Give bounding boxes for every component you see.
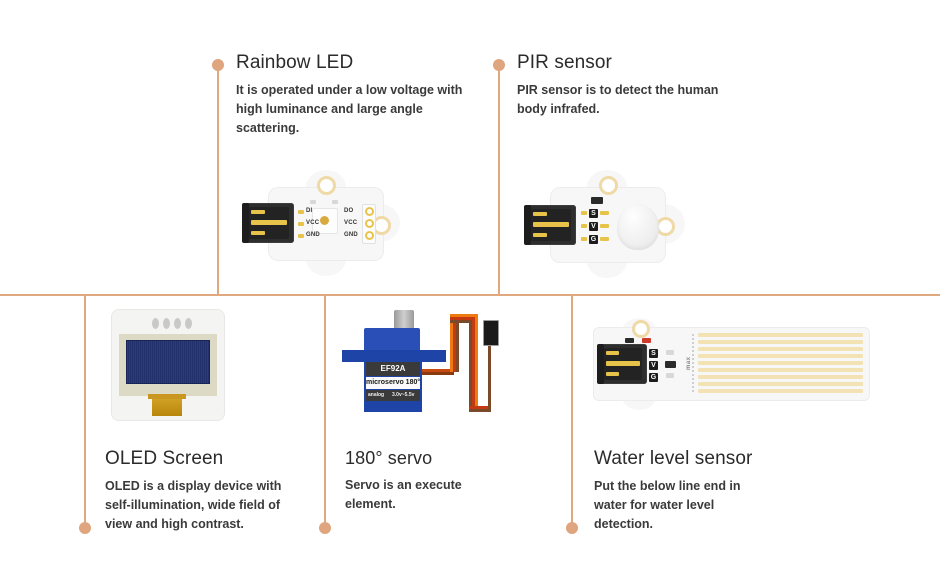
servo-spec-right-text: 3.0v~5.5v [392, 392, 418, 398]
servo-wire-down-orange [475, 314, 478, 412]
servo-spec-left-text: analog [368, 392, 390, 398]
pir-pad-s [581, 211, 587, 215]
pin-label-vcc-right: VCC [344, 220, 357, 226]
callout-body-rainbow-led: It is operated under a low voltage with … [236, 81, 466, 138]
oled-display-area [126, 340, 210, 384]
wl-trace-5 [698, 361, 863, 365]
smd-part-a [310, 200, 316, 204]
pir-trace-v [600, 224, 609, 228]
oled-flex-base [148, 394, 186, 399]
callout-pir-sensor: PIR sensor PIR sensor is to detect the h… [517, 52, 732, 119]
connector-contact-2 [251, 220, 287, 225]
wl-pin-label-s: S [649, 349, 658, 358]
callout-body-servo: Servo is an execute element. [345, 476, 505, 514]
pir-smd-chip [591, 197, 603, 204]
pir-trace-s [600, 211, 609, 215]
pad-gnd-left [298, 234, 304, 238]
pir-dome-lens [617, 204, 659, 250]
pad-vcc-left [298, 222, 304, 226]
wl-smd-ic [665, 361, 676, 368]
pir-connector-contact-3 [533, 233, 547, 237]
wl-connector-contact-1 [606, 351, 619, 355]
wl-trace-8 [698, 382, 863, 386]
callout-body-oled-screen: OLED is a display device with self-illum… [105, 477, 295, 534]
wl-connector-contact-2 [606, 361, 640, 366]
water-level-sensor-image: S V G max [594, 318, 884, 410]
wl-indicator-red [642, 338, 651, 343]
wl-trace-6 [698, 368, 863, 372]
pir-mount-hole-top [599, 176, 618, 195]
dot-rainbow-led [212, 59, 224, 71]
dot-pir-sensor [493, 59, 505, 71]
oled-flex-connector [152, 396, 182, 416]
wl-trace-7 [698, 375, 863, 379]
pir-connector-left-rail [524, 205, 531, 245]
callout-title-oled-screen: OLED Screen [105, 448, 295, 470]
wl-connector-contact-3 [606, 372, 619, 376]
connector-contact-3 [251, 231, 265, 235]
wl-smd-2 [666, 373, 674, 378]
oled-vent-dot-1 [152, 318, 159, 329]
wl-trace-2 [698, 340, 863, 344]
pir-pad-v [581, 224, 587, 228]
horizontal-divider-line [0, 294, 940, 296]
oled-vent-dot-3 [174, 318, 181, 329]
dot-water-level [566, 522, 578, 534]
callout-title-pir-sensor: PIR sensor [517, 52, 732, 74]
pin-label-gnd-left: GND [306, 232, 320, 238]
pir-cable-connector [524, 205, 576, 245]
smd-part-b [332, 200, 338, 204]
header-hole-1 [365, 207, 374, 216]
servo-type-text: microservo 180° [366, 379, 420, 386]
wl-trace-3 [698, 347, 863, 351]
pir-trace-g [600, 237, 609, 241]
wl-pin-label-v: V [649, 361, 658, 370]
callout-title-servo: 180° servo [345, 448, 505, 469]
callout-water-level: Water level sensor Put the below line en… [594, 448, 759, 534]
wl-connector-left-rail [597, 344, 604, 384]
servo-cable-plug [483, 320, 499, 346]
servo-wire-lead-brown [422, 372, 454, 375]
pir-pin-label-g: G [589, 235, 598, 244]
pin-label-di: DI [306, 208, 312, 214]
pir-pad-g [581, 237, 587, 241]
pir-sensor-module-image: S V G [525, 170, 685, 278]
header-hole-3 [365, 231, 374, 240]
wl-pin-label-g: G [649, 373, 658, 382]
servo-image: EF92A microservo 180° analog 3.0v~5.5v [340, 310, 510, 420]
wl-trace-4 [698, 354, 863, 358]
oled-screen-image [112, 310, 224, 420]
wl-trace-1 [698, 333, 863, 337]
callout-servo: 180° servo Servo is an execute element. [345, 448, 505, 514]
callout-oled-screen: OLED Screen OLED is a display device wit… [105, 448, 295, 534]
stem-rainbow-led [217, 65, 219, 295]
stem-pir-sensor [498, 65, 500, 295]
pad-di [298, 210, 304, 214]
servo-model-text: EF92A [366, 364, 420, 373]
connector-contact-1 [251, 210, 265, 214]
pin-label-gnd-right: GND [344, 232, 358, 238]
callout-body-pir-sensor: PIR sensor is to detect the human body i… [517, 81, 732, 119]
rainbow-led-module-image: DI VCC GND DO VCC GND [248, 170, 400, 275]
header-hole-2 [365, 219, 374, 228]
oled-vent-dot-4 [185, 318, 192, 329]
servo-wire-down-red [472, 320, 475, 412]
servo-wire-down-brown [469, 320, 472, 412]
callout-rainbow-led: Rainbow LED It is operated under a low v… [236, 52, 466, 138]
rgb-led-die [320, 216, 329, 225]
stem-servo [324, 295, 326, 528]
pir-pin-label-s: S [589, 209, 598, 218]
pir-connector-contact-2 [533, 222, 569, 227]
mount-hole-top [317, 176, 336, 195]
stem-oled-screen [84, 295, 86, 528]
pin-label-do: DO [344, 208, 353, 214]
wl-indicator-black [625, 338, 634, 343]
connector-left-rail [242, 203, 249, 243]
led-cable-connector [242, 203, 294, 243]
callout-title-rainbow-led: Rainbow LED [236, 52, 466, 74]
wl-trace-9 [698, 389, 863, 393]
wl-cable-connector [597, 344, 647, 384]
dot-servo [319, 522, 331, 534]
wl-smd-1 [666, 350, 674, 355]
pin-label-vcc-left: VCC [306, 220, 319, 226]
stem-water-level [571, 295, 573, 528]
callout-title-water-level: Water level sensor [594, 448, 759, 470]
pir-pin-label-v: V [589, 222, 598, 231]
wl-dashed-boundary [692, 334, 694, 394]
infographic-canvas: Rainbow LED It is operated under a low v… [0, 0, 940, 583]
dot-oled-screen [79, 522, 91, 534]
callout-body-water-level: Put the below line end in water for wate… [594, 477, 759, 534]
wl-mount-hole [632, 320, 650, 338]
oled-vent-dot-2 [163, 318, 170, 329]
pir-connector-contact-1 [533, 212, 547, 216]
